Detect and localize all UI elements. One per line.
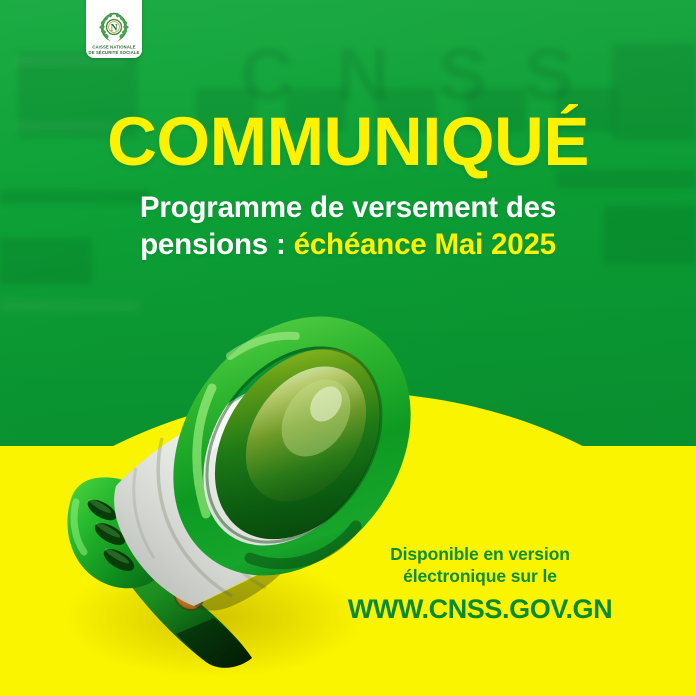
- availability-line-1: Disponible en version: [330, 543, 630, 565]
- subtitle-line-2-highlight: échéance Mai 2025: [294, 228, 556, 261]
- website-url[interactable]: WWW.CNSS.GOV.GN: [330, 594, 630, 625]
- cnss-logo-caption: CAISSE NATIONALE DE SÉCURITÉ SOCIALE: [80, 46, 148, 56]
- headline-block: COMMUNIQUÉ Programme de versement des pe…: [0, 108, 696, 263]
- cnss-logo-badge: N CAISSE NATIONALE DE SÉCURITÉ SOCIALE: [86, 0, 142, 58]
- cnss-emblem-icon: N: [97, 10, 131, 44]
- subtitle-line-1: Programme de versement des: [140, 191, 556, 224]
- page-title: COMMUNIQUÉ: [0, 108, 696, 176]
- subtitle-line-2-plain: pensions :: [140, 228, 294, 261]
- availability-line-2: électronique sur le: [330, 565, 630, 587]
- availability-text: Disponible en version électronique sur l…: [330, 543, 630, 588]
- logo-caption-line-2: DE SÉCURITÉ SOCIALE: [80, 51, 148, 56]
- svg-text:N: N: [111, 23, 118, 33]
- footer-text-block: Disponible en version électronique sur l…: [330, 543, 630, 625]
- poster-canvas: C N S S: [0, 0, 696, 696]
- page-subtitle: Programme de versement des pensions : éc…: [0, 189, 696, 263]
